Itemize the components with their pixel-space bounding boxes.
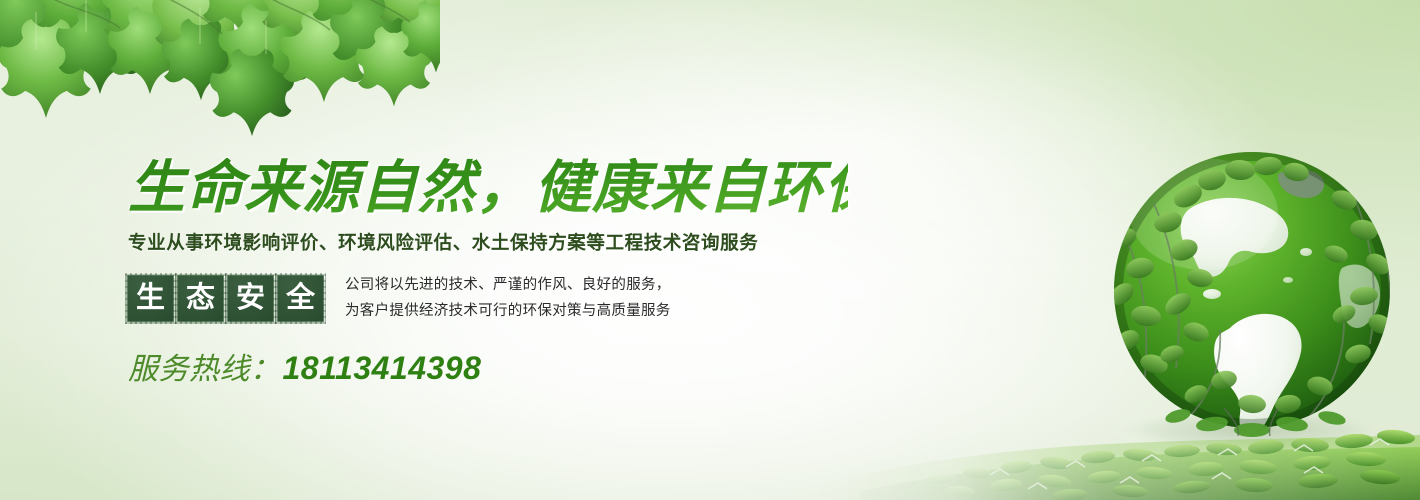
ivy-leaves-decoration: [0, 0, 440, 164]
description-line-1: 公司将以先进的技术、严谨的作风、良好的服务，: [345, 272, 671, 299]
seal-group: 生 态 安 全: [128, 276, 323, 321]
service-hotline: 服务热线：18113414398: [128, 344, 848, 388]
seal-char-1: 生: [136, 284, 165, 313]
hotline-number[interactable]: 18113414398: [283, 350, 482, 386]
headline: 生命来源自然，健康来自环保: [128, 158, 848, 220]
hotline-label: 服务热线：: [128, 353, 281, 386]
description-text: 公司将以先进的技术、严谨的作风、良好的服务， 为客户提供经济技术可行的环保对策与…: [345, 272, 671, 326]
seal-char-2: 态: [186, 284, 215, 313]
eco-banner: 生命来源自然，健康来自环保 专业从事环境影响评价、环境风险评估、水土保持方案等工…: [0, 0, 1420, 500]
seal-char-3: 安: [236, 284, 265, 313]
seal-char-4: 全: [286, 284, 315, 313]
banner-text-content: 生命来源自然，健康来自环保 专业从事环境影响评价、环境风险评估、水土保持方案等工…: [128, 158, 848, 388]
seals-and-description-row: 生 态 安 全 公司将以先进的技术、严谨的作风、良好的服务， 为客户提供经济技术…: [128, 272, 848, 326]
seal-block-3: 安: [228, 276, 273, 321]
leafy-ground-decoration: [820, 405, 1420, 500]
description-line-2: 为客户提供经济技术可行的环保对策与高质量服务: [345, 298, 671, 325]
seal-block-1: 生: [128, 276, 173, 321]
subtitle: 专业从事环境影响评价、环境风险评估、水土保持方案等工程技术咨询服务: [128, 229, 848, 255]
seal-block-2: 态: [178, 276, 223, 321]
seal-block-4: 全: [278, 276, 323, 321]
